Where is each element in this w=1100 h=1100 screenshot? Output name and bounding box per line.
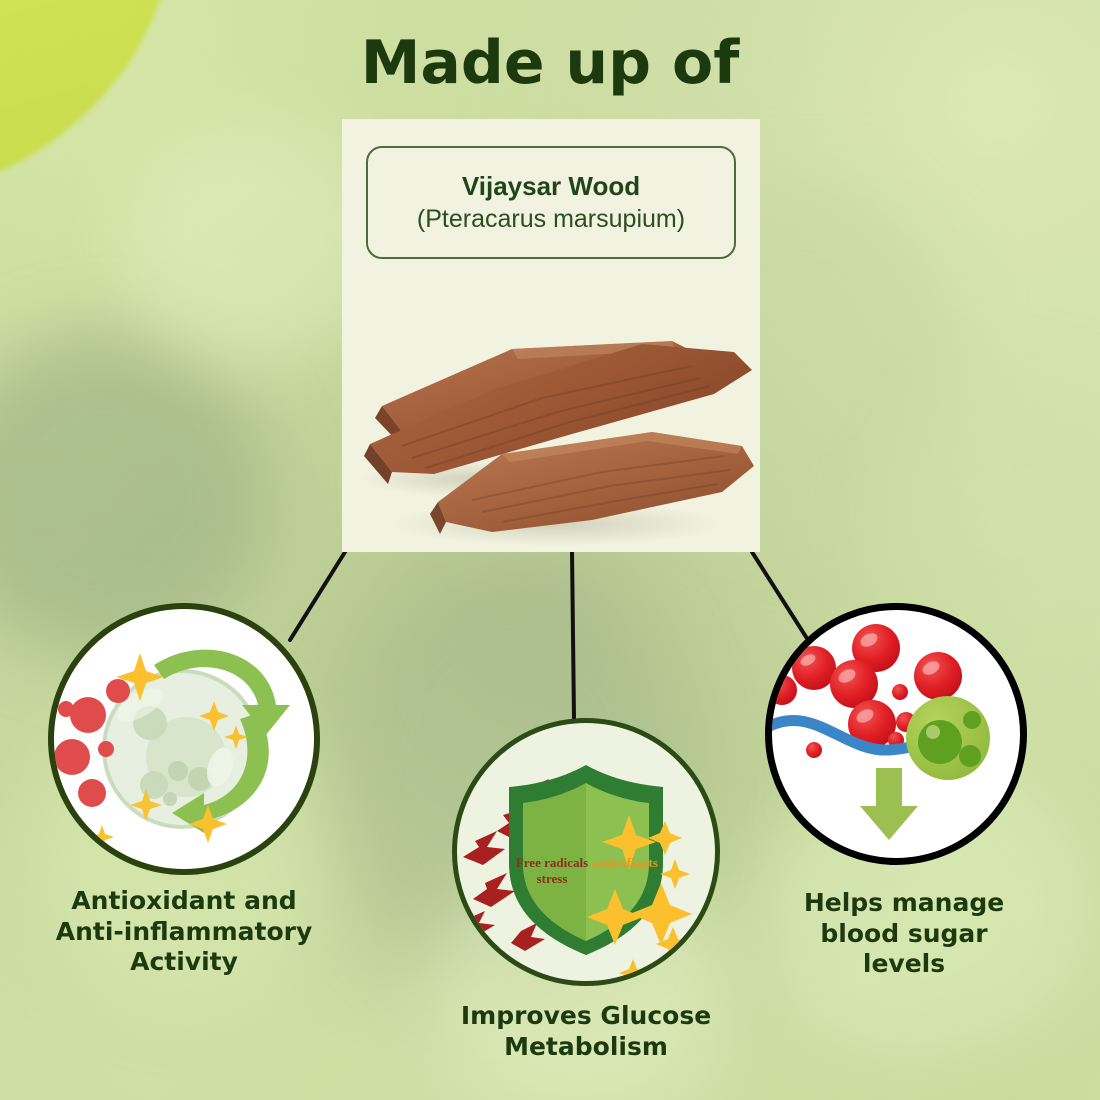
- ingredient-latin-name: (Pteracarus marsupium): [417, 205, 685, 234]
- ingredient-card: Vijaysar Wood (Pteracarus marsupium): [342, 119, 760, 552]
- benefit-caption: Antioxidant and Anti-inflammatory Activi…: [19, 886, 349, 978]
- shield-label-right: antioxfiants: [592, 855, 658, 870]
- cell-with-arrows-icon: [48, 603, 320, 875]
- shield-label-left-line2: stress: [537, 871, 568, 886]
- connector-line-right: [752, 552, 808, 640]
- shield-icon: Free radicals stress antioxfiants: [452, 718, 720, 986]
- ingredient-label-box: Vijaysar Wood (Pteracarus marsupium): [366, 146, 736, 259]
- vijaysar-wood-image: [342, 294, 760, 552]
- connector-line-left: [290, 552, 345, 640]
- benefit-caption: Helps manage blood sugar levels: [744, 888, 1064, 980]
- shield-label-left-line1: Free radicals: [516, 855, 588, 870]
- ingredient-name: Vijaysar Wood: [462, 171, 640, 202]
- connector-line-center: [572, 552, 574, 718]
- blood-sugar-cell-icon: [765, 603, 1027, 865]
- benefit-caption: Improves Glucose Metabolism: [406, 1001, 766, 1062]
